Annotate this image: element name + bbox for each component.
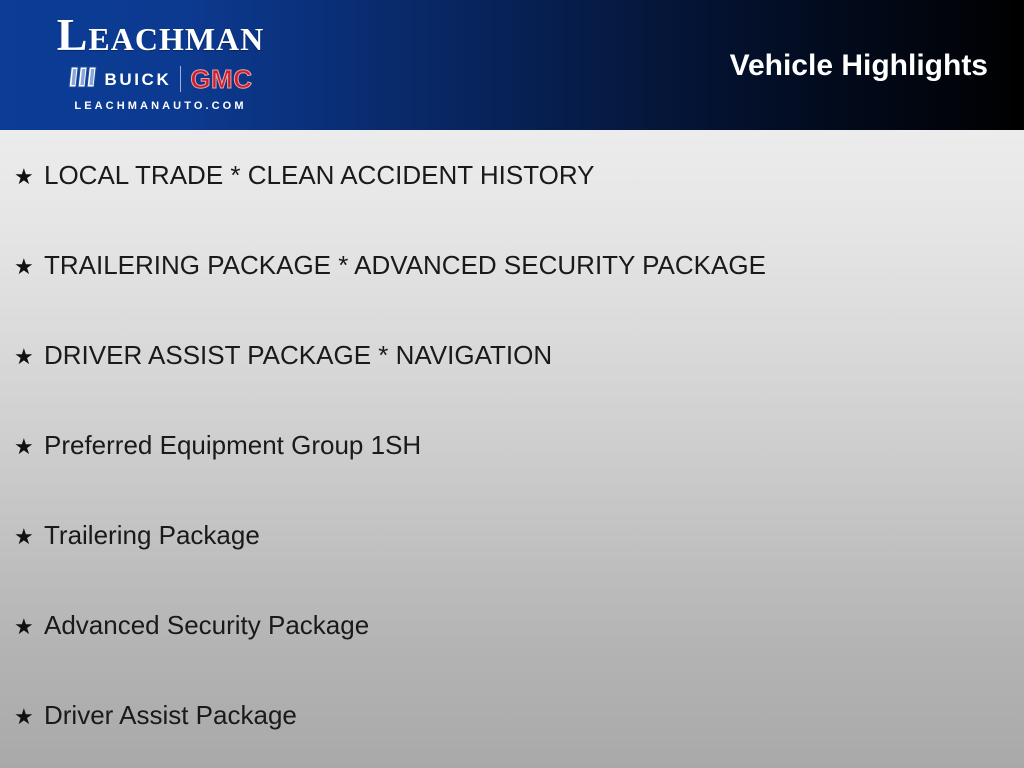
list-item-label: Trailering Package xyxy=(44,520,1024,550)
brand-lockup-row: BUICK GMC xyxy=(18,65,303,93)
list-item-label: LOCAL TRADE * CLEAN ACCIDENT HISTORY xyxy=(44,160,1024,190)
buick-lockup: BUICK xyxy=(68,66,171,93)
list-item: ★ LOCAL TRADE * CLEAN ACCIDENT HISTORY xyxy=(0,160,1024,250)
star-bullet-icon: ★ xyxy=(14,163,44,191)
vehicle-highlights-page: Leachman xyxy=(0,0,1024,768)
list-item-label: DRIVER ASSIST PACKAGE * NAVIGATION xyxy=(44,340,1024,370)
list-item-label: Advanced Security Package xyxy=(44,610,1024,640)
page-header: Leachman xyxy=(0,0,1024,130)
list-item-label: TRAILERING PACKAGE * ADVANCED SECURITY P… xyxy=(44,250,1024,280)
list-item: ★ Trailering Package xyxy=(0,520,1024,610)
star-bullet-icon: ★ xyxy=(14,523,44,551)
brand-divider xyxy=(180,66,181,92)
list-item: ★ Preferred Equipment Group 1SH xyxy=(0,430,1024,520)
dealer-logo[interactable]: Leachman xyxy=(18,10,303,122)
list-item: ★ DRIVER ASSIST PACKAGE * NAVIGATION xyxy=(0,340,1024,430)
list-item: ★ Advanced Security Package xyxy=(0,610,1024,700)
list-item-label: Preferred Equipment Group 1SH xyxy=(44,430,1024,460)
star-bullet-icon: ★ xyxy=(14,343,44,371)
star-bullet-icon: ★ xyxy=(14,253,44,281)
gmc-label: GMC xyxy=(190,66,252,92)
star-bullet-icon: ★ xyxy=(14,433,44,461)
star-bullet-icon: ★ xyxy=(14,613,44,641)
highlights-panel: ★ LOCAL TRADE * CLEAN ACCIDENT HISTORY ★… xyxy=(0,130,1024,768)
dealer-wordmark: Leachman xyxy=(18,10,303,60)
page-title: Vehicle Highlights xyxy=(730,48,988,84)
star-bullet-icon: ★ xyxy=(14,703,44,731)
vehicle-highlights-list: ★ LOCAL TRADE * CLEAN ACCIDENT HISTORY ★… xyxy=(0,130,1024,768)
buick-tri-shield-icon xyxy=(68,66,98,93)
list-item: ★ TRAILERING PACKAGE * ADVANCED SECURITY… xyxy=(0,250,1024,340)
buick-label: BUICK xyxy=(104,71,171,88)
dealer-website-url: LEACHMANAUTO.COM xyxy=(18,100,303,112)
list-item: ★ Driver Assist Package xyxy=(0,700,1024,768)
list-item-label: Driver Assist Package xyxy=(44,700,1024,730)
